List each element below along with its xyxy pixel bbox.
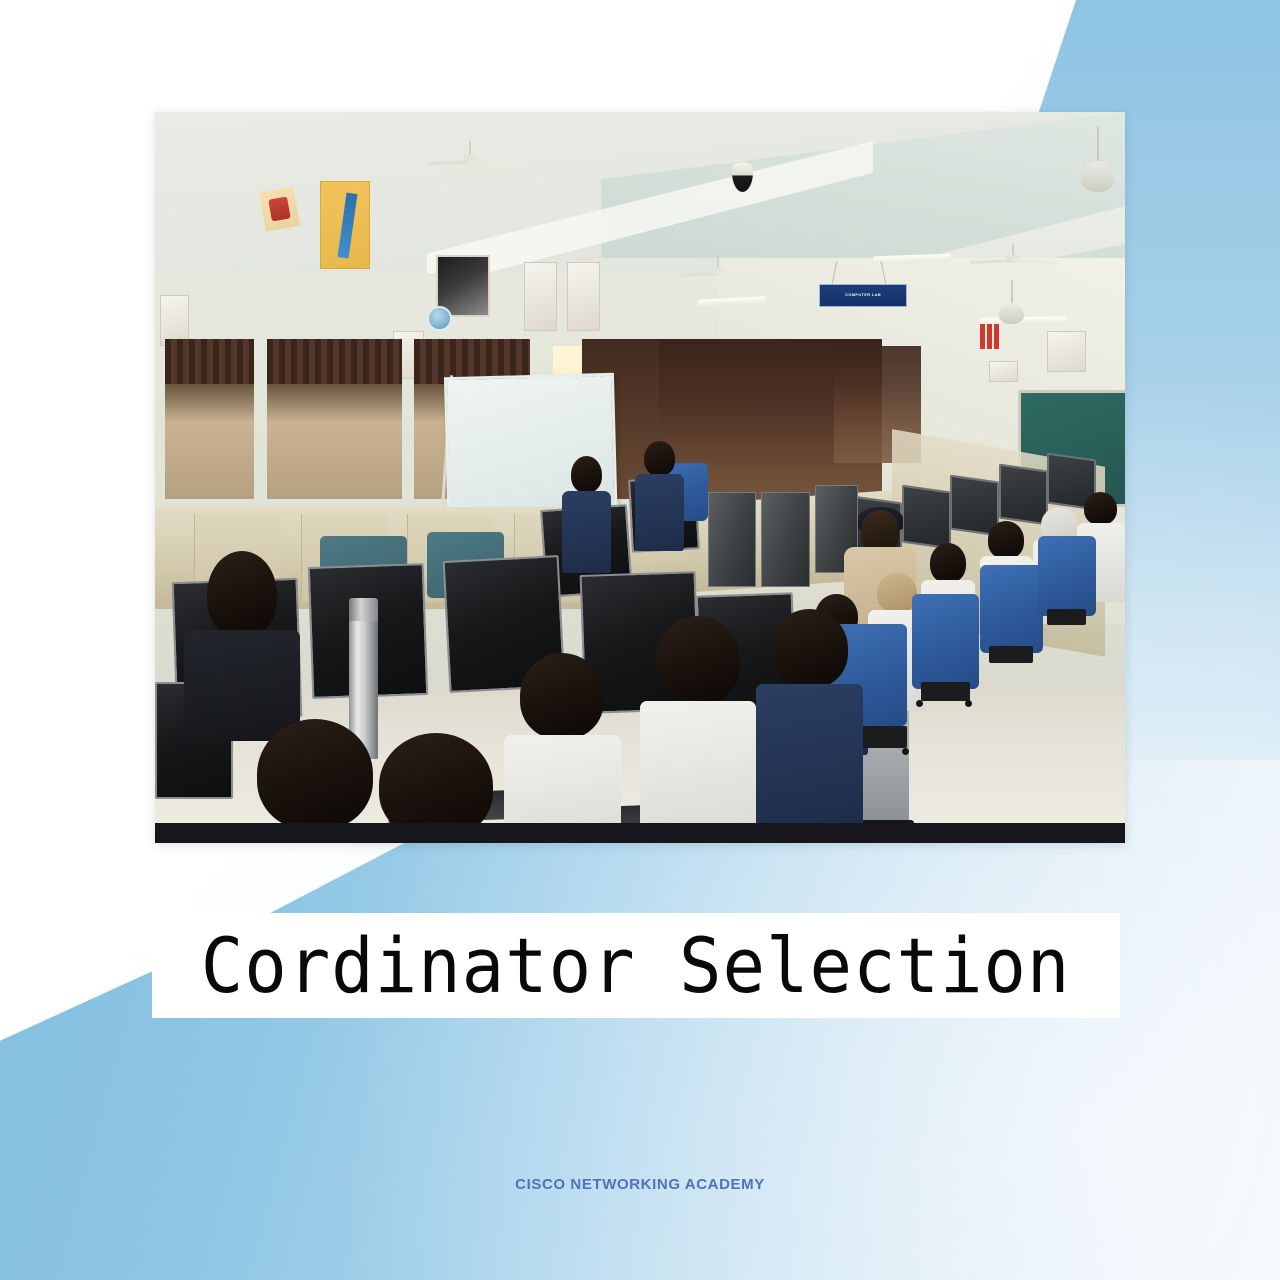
title-band: Cordinator Selection [152, 913, 1120, 1018]
pendant-lamp-icon [999, 280, 1024, 324]
lab-sign-text: COMPUTER LAB [845, 293, 881, 297]
chair [1038, 536, 1096, 616]
chair [912, 594, 980, 689]
ceiling-fan-icon [970, 244, 1057, 281]
classroom-photo: COMPUTER LAB [155, 112, 1125, 843]
pendant-lamp-icon [1081, 127, 1114, 193]
student-foreground [504, 653, 620, 843]
photo-scene: COMPUTER LAB [155, 112, 1125, 843]
ceiling-fan-icon [427, 141, 514, 185]
wall-poster-yellow [320, 181, 370, 269]
wall-poster-notice [524, 262, 557, 331]
poster-canvas: COMPUTER LAB [0, 0, 1280, 1280]
red-flag-bunting [980, 324, 999, 349]
wall-poster-notice [989, 361, 1018, 383]
chair-wheel [902, 748, 909, 755]
wall-badge-emblem [427, 306, 452, 331]
wall-poster-notice [567, 262, 600, 331]
student-foreground [184, 551, 300, 741]
wall-poster-notice [1047, 331, 1086, 371]
lab-sign: COMPUTER LAB [819, 284, 906, 307]
photo-letterbox-bar [155, 823, 1125, 843]
chair [980, 565, 1043, 653]
chair-base [1047, 609, 1086, 625]
chair-base [921, 682, 970, 701]
curtained-window [267, 339, 401, 500]
cpu-tower [708, 492, 757, 587]
wall-poster-fire-safety [258, 186, 299, 232]
chair-base [989, 646, 1033, 664]
cpu-tower [761, 492, 810, 587]
page-title: Cordinator Selection [201, 921, 1071, 1010]
footer: CISCO NETWORKING ACADEMY [0, 1176, 1280, 1194]
footer-text: CISCO NETWORKING ACADEMY [515, 1176, 765, 1193]
curtained-window [165, 339, 255, 500]
student [635, 441, 684, 551]
student-foreground [640, 616, 756, 843]
ceiling-fan-icon [679, 255, 757, 294]
student-foreground [756, 609, 863, 828]
cctv-camera-icon [732, 152, 753, 192]
student [562, 456, 611, 573]
